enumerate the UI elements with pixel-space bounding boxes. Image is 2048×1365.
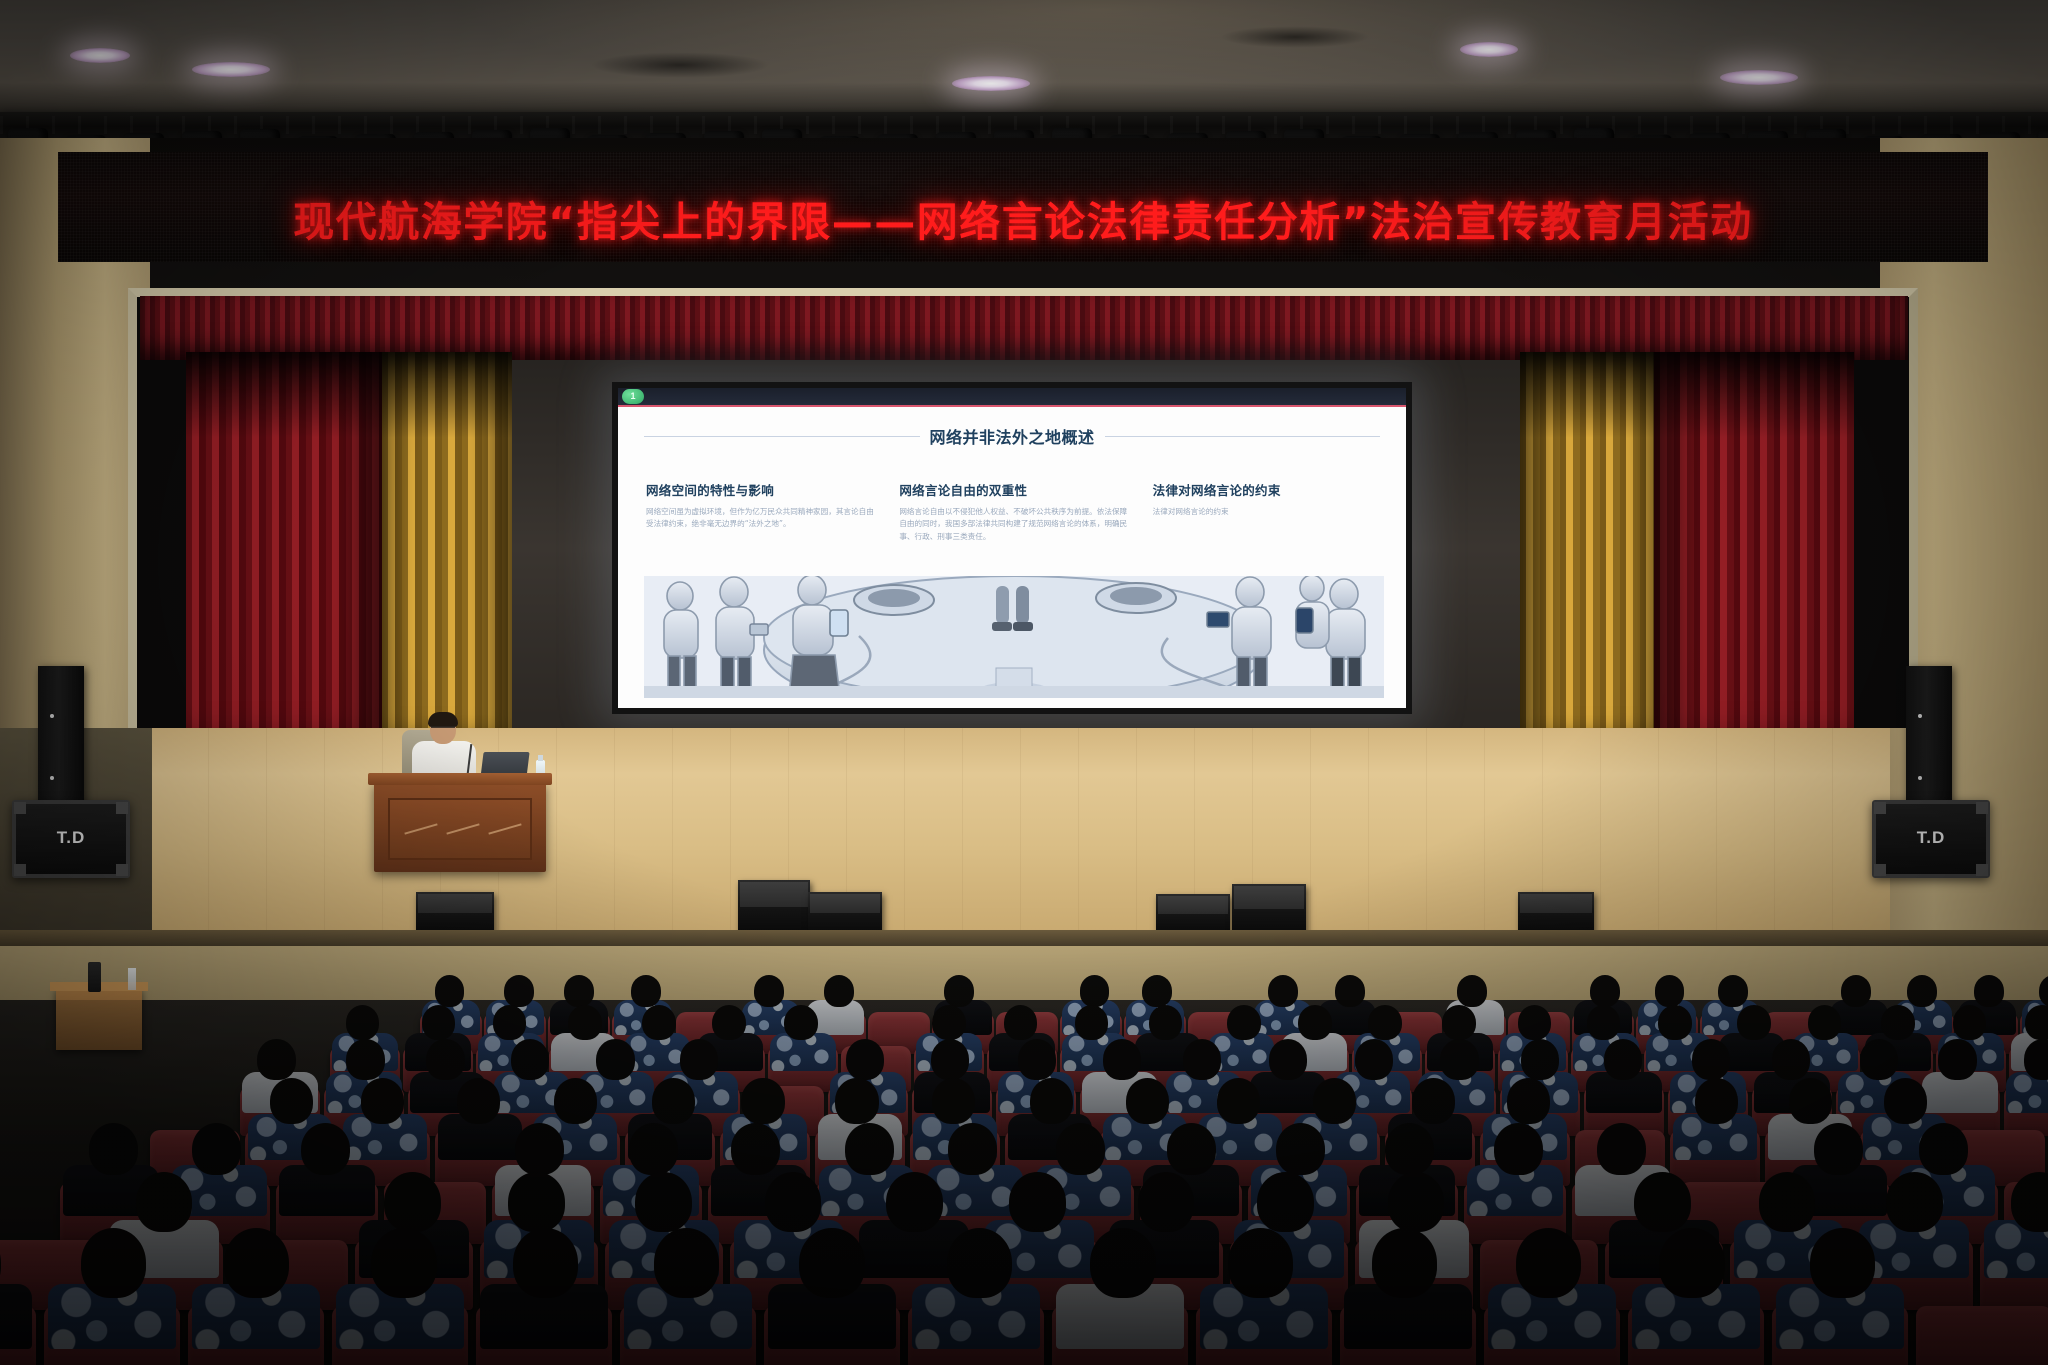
column-heading: 网络言论自由的双重性 xyxy=(899,480,1128,499)
audience-member-head xyxy=(1881,1005,1915,1041)
speaker-grill xyxy=(810,894,880,913)
audience-member-head xyxy=(81,1228,146,1297)
podium-desk xyxy=(374,782,546,872)
banner-headline: 现代航海学院“指尖上的界限——网络言论法律责任分析”法治宣传教育月活动 xyxy=(58,188,1988,248)
audience-member-head xyxy=(1075,1005,1109,1041)
audience-member-head xyxy=(1655,975,1685,1007)
column-body: 网络言论自由以不侵犯他人权益、不破坏公共秩序为前提。依法保障自由的同时，我国多部… xyxy=(899,506,1128,543)
status-led xyxy=(50,776,54,780)
audience-member-head xyxy=(435,975,465,1007)
tablet xyxy=(830,610,848,636)
audience-member-head xyxy=(1789,1078,1832,1124)
title-divider-right xyxy=(1105,436,1381,437)
audience-member-head xyxy=(257,1039,295,1080)
audience-member-head xyxy=(1257,1172,1314,1232)
podium-trim xyxy=(488,823,521,834)
slide-surface: 1 网络并非法外之地概述 网络空间的特性与影响 网络空间虽为虚拟环境，但作为亿万… xyxy=(618,388,1406,708)
audience-member-head xyxy=(741,1078,784,1124)
audience-member-head xyxy=(426,1039,464,1080)
audience-member-head xyxy=(712,1005,746,1041)
audience-member-head xyxy=(1056,1123,1105,1175)
slide-title: 网络并非法外之地概述 xyxy=(930,424,1095,448)
stage-monitor xyxy=(1232,884,1306,936)
ceiling-downlight xyxy=(1460,42,1518,57)
line-array-speaker xyxy=(1906,666,1952,816)
audience-member-head xyxy=(1860,1039,1898,1080)
road-case-left: T.D xyxy=(12,800,130,878)
audience-member-head xyxy=(1018,1039,1056,1080)
audience-member-head xyxy=(1695,1078,1738,1124)
audience-member-head xyxy=(1919,1123,1968,1175)
curtain-valance xyxy=(140,296,1908,360)
audience-member-head xyxy=(1298,1005,1332,1041)
audience-member-head xyxy=(629,1123,678,1175)
audience-member-head xyxy=(564,975,594,1007)
audience-member-head xyxy=(270,1078,313,1124)
audience-member-head xyxy=(508,1172,565,1232)
led-banner: 现代航海学院“指尖上的界限——网络言论法律责任分析”法治宣传教育月活动 xyxy=(58,152,1988,262)
audience-member-head xyxy=(89,1123,138,1175)
audience-member-head xyxy=(554,1078,597,1124)
audience-member-head xyxy=(1507,1078,1550,1124)
curtain-shadow xyxy=(186,352,512,438)
speaker-grill xyxy=(740,882,808,907)
audience-member-head xyxy=(1009,1172,1066,1232)
audience-member-head xyxy=(1772,1039,1810,1080)
audience-member-head xyxy=(1126,1078,1169,1124)
audience-member-head xyxy=(1313,1078,1356,1124)
audience-member-head xyxy=(346,1005,380,1041)
audience-member-torso xyxy=(0,1284,32,1350)
audience-member-head xyxy=(422,1005,456,1041)
audience-member-head xyxy=(1388,1172,1445,1232)
audience-member-head xyxy=(1183,1039,1221,1080)
audience-member-head xyxy=(224,1228,289,1297)
audience-member-head xyxy=(2025,1005,2048,1041)
speaker-hair xyxy=(428,712,458,727)
audience-member-head xyxy=(1368,1005,1402,1041)
road-case-brand: T.D xyxy=(16,828,126,848)
audience-member-head xyxy=(1634,1172,1691,1232)
audience-member-head xyxy=(1103,1039,1141,1080)
audience-member-head xyxy=(371,1228,436,1297)
slide-title-row: 网络并非法外之地概述 xyxy=(618,424,1406,448)
audience-member-head xyxy=(568,1005,602,1041)
audience-member-head xyxy=(1604,1039,1642,1080)
audience-member-head xyxy=(1587,1005,1621,1041)
line-array-speaker xyxy=(38,666,84,816)
road-case-brand: T.D xyxy=(1876,828,1986,848)
audience-member-head xyxy=(1884,1078,1927,1124)
audience-member-head xyxy=(1142,975,1172,1007)
audience-member-head xyxy=(1907,975,1937,1007)
audience-member-head xyxy=(1004,1005,1038,1041)
audience-member-head xyxy=(631,975,661,1007)
audience-member-head xyxy=(596,1039,634,1080)
speaker-grill xyxy=(1520,894,1592,913)
audience-member-head xyxy=(1167,1123,1216,1175)
side-lectern xyxy=(56,988,142,1050)
audience-member-head xyxy=(136,1172,193,1232)
audience-member-head xyxy=(835,1078,878,1124)
audience-member-head xyxy=(1974,975,2004,1007)
illustration-artwork xyxy=(644,576,1384,698)
audience-member-head xyxy=(1440,1039,1478,1080)
slide-columns: 网络空间的特性与影响 网络空间虽为虚拟环境，但作为亿万民众共同精神家园，其言论自… xyxy=(646,480,1382,543)
audience-member-head xyxy=(1814,1123,1863,1175)
audience-member-head xyxy=(824,975,854,1007)
audience-member-head xyxy=(754,975,784,1007)
curtain-shadow xyxy=(1520,352,1854,438)
slide-number-badge: 1 xyxy=(622,389,644,404)
audience-member-head xyxy=(1659,1228,1724,1297)
ceiling-downlight xyxy=(1720,70,1798,85)
audience-member-head xyxy=(1692,1039,1730,1080)
audience-member-head xyxy=(1841,975,1871,1007)
audience-member-head xyxy=(1457,975,1487,1007)
audience-member-head xyxy=(845,1123,894,1175)
audience-member-head xyxy=(1355,1039,1393,1080)
audience-member-head xyxy=(846,1039,884,1080)
audience-member-head xyxy=(642,1005,676,1041)
podium-trim xyxy=(446,823,479,834)
audience-member-head xyxy=(931,1039,969,1080)
audience-member-head xyxy=(1658,1005,1692,1041)
audience-member-head xyxy=(1442,1005,1476,1041)
audience-member-head xyxy=(932,1078,975,1124)
paper-cup xyxy=(128,968,136,990)
audience-member-head xyxy=(680,1039,718,1080)
column-body: 网络空间虽为虚拟环境，但作为亿万民众共同精神家园，其言论自由受法律约束，绝非毫无… xyxy=(646,506,875,531)
audience-member-head xyxy=(1217,1078,1260,1124)
audience-member-head xyxy=(457,1078,500,1124)
audience-member-head xyxy=(1737,1005,1771,1041)
audience-member-head xyxy=(1810,1228,1875,1297)
audience-member-head xyxy=(1138,1172,1195,1232)
audience-member-head xyxy=(1228,1228,1293,1297)
audience-member-head xyxy=(1953,1005,1987,1041)
status-led xyxy=(1918,714,1922,718)
thermos-flask xyxy=(88,962,101,992)
speaker-grill xyxy=(1234,886,1304,909)
audience-member-head xyxy=(1590,975,1620,1007)
stage-monitor xyxy=(738,880,810,936)
audience-member-head xyxy=(361,1078,404,1124)
audience-member-head xyxy=(1521,1039,1559,1080)
ceiling-recess xyxy=(1220,26,1370,48)
audience-member-head xyxy=(799,1228,864,1297)
audience-member-head xyxy=(886,1172,943,1232)
slide-top-bar xyxy=(618,388,1406,405)
audience-member-head xyxy=(301,1123,350,1175)
column-heading: 网络空间的特性与影响 xyxy=(646,480,875,499)
audience-member-head xyxy=(1518,1005,1552,1041)
audience-member-head xyxy=(1886,1172,1943,1232)
audience-member-head xyxy=(1269,1039,1307,1080)
audience-member-head xyxy=(1030,1078,1073,1124)
ceiling-downlight xyxy=(192,62,270,77)
audience-member-head xyxy=(1516,1228,1581,1297)
audience-member-head xyxy=(493,1005,527,1041)
podium-front-panel xyxy=(388,798,532,860)
status-led xyxy=(1918,776,1922,780)
auditorium-seat[interactable] xyxy=(1916,1306,2048,1365)
audience-member-head xyxy=(765,1172,822,1232)
audience-member-head xyxy=(1597,1123,1646,1175)
column-heading: 法律对网络言论的约束 xyxy=(1153,480,1382,499)
slide-accent-rule xyxy=(618,405,1406,407)
slide-column-1: 网络空间的特性与影响 网络空间虽为虚拟环境，但作为亿万民众共同精神家园，其言论自… xyxy=(646,480,875,543)
audience-member-head xyxy=(784,1005,818,1041)
audience-member-head xyxy=(654,1228,719,1297)
slide-illustration xyxy=(644,576,1384,698)
slide-column-3: 法律对网络言论的约束 法律对网络言论的约束 xyxy=(1153,480,1382,543)
audience-member-head xyxy=(513,1228,578,1297)
audience-member-head xyxy=(947,1228,1012,1297)
audience-member-head xyxy=(515,1123,564,1175)
audience-member-head xyxy=(346,1039,384,1080)
audience-member-head xyxy=(652,1078,695,1124)
audience-member-head xyxy=(504,975,534,1007)
audience-member-head xyxy=(1412,1078,1455,1124)
column-body: 法律对网络言论的约束 xyxy=(1153,506,1382,518)
ceiling-downlight xyxy=(952,76,1030,91)
audience-member-head xyxy=(1268,975,1298,1007)
audience-member-head xyxy=(1808,1005,1842,1041)
audience-member-head xyxy=(1276,1123,1325,1175)
status-led xyxy=(50,714,54,718)
audience-member-head xyxy=(731,1123,780,1175)
audience-member-head xyxy=(1494,1123,1543,1175)
podium-top-surface xyxy=(368,773,552,785)
audience-member-head xyxy=(192,1123,241,1175)
audience-member-head xyxy=(1759,1172,1816,1232)
audience-member-head xyxy=(1149,1005,1183,1041)
slide-column-2: 网络言论自由的双重性 网络言论自由以不侵犯他人权益、不破坏公共秩序为前提。依法保… xyxy=(899,480,1128,543)
audience-member-head xyxy=(948,1123,997,1175)
audience-member-head xyxy=(1938,1039,1976,1080)
audience-member-head xyxy=(384,1172,441,1232)
glasses-icon xyxy=(431,726,455,733)
audience-member-head xyxy=(932,1005,966,1041)
ceiling-recess xyxy=(590,52,770,78)
audience-member-head xyxy=(1090,1228,1155,1297)
audience-member-head xyxy=(1718,975,1748,1007)
audience-member-head xyxy=(511,1039,549,1080)
audience-member-head xyxy=(1385,1123,1434,1175)
audience-member-head xyxy=(1227,1005,1261,1041)
audience-member-head xyxy=(1372,1228,1437,1297)
podium-trim xyxy=(404,823,437,834)
led-presentation-screen[interactable]: 1 网络并非法外之地概述 网络空间的特性与影响 网络空间虽为虚拟环境，但作为亿万… xyxy=(612,382,1412,714)
audience-member-head xyxy=(1080,975,1110,1007)
audience-member-head xyxy=(1335,975,1365,1007)
ceiling-light-wash xyxy=(0,0,2048,118)
auditorium-scene: 现代航海学院“指尖上的界限——网络言论法律责任分析”法治宣传教育月活动 1 网络… xyxy=(0,0,2048,1365)
speaker-grill xyxy=(1158,896,1228,914)
audience-member-head xyxy=(635,1172,692,1232)
road-case-right: T.D xyxy=(1872,800,1990,878)
title-divider-left xyxy=(644,436,920,437)
speaker-grill xyxy=(418,894,492,913)
audience-member-head xyxy=(944,975,974,1007)
ceiling-downlight xyxy=(70,48,130,63)
